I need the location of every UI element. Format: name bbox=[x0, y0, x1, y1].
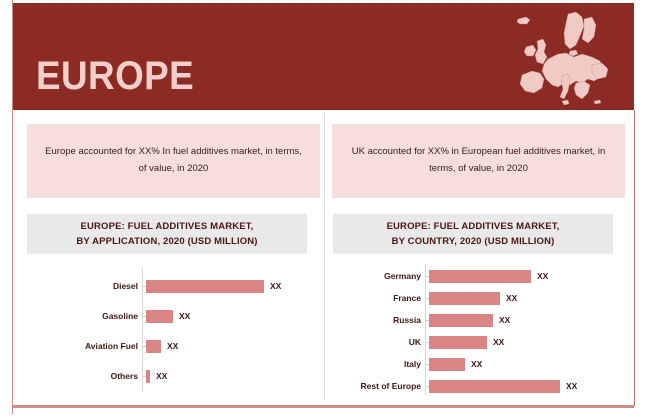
country-bar bbox=[429, 270, 531, 283]
chart-title-by-application-text: EUROPE: FUEL ADDITIVES MARKET, BY APPLIC… bbox=[76, 219, 257, 249]
uk-share-callout: UK accounted for XX% in European fuel ad… bbox=[332, 124, 625, 198]
bottom-accent-rail bbox=[13, 405, 634, 408]
country-value-label: XX bbox=[471, 359, 482, 369]
country-bar bbox=[429, 314, 493, 327]
country-category-label: UK bbox=[337, 337, 425, 347]
application-category-label: Others bbox=[22, 371, 142, 381]
chart-by-country-plot: GermanyXXFranceXXRussiaXXUKXXItalyXXRest… bbox=[337, 262, 627, 400]
application-value-label: XX bbox=[270, 281, 281, 291]
country-bar bbox=[429, 358, 465, 371]
country-value-label: XX bbox=[537, 271, 548, 281]
chart-title-by-application-line2: BY APPLICATION, 2020 (USD MILLION) bbox=[76, 236, 257, 247]
country-bar-row: GermanyXX bbox=[337, 265, 627, 287]
application-bar-row: Aviation FuelXX bbox=[22, 331, 317, 361]
country-bar-row: Rest of EuropeXX bbox=[337, 375, 627, 397]
application-bar bbox=[146, 280, 264, 293]
country-bar-row: UKXX bbox=[337, 331, 627, 353]
country-value-label: XX bbox=[506, 293, 517, 303]
chart-title-by-country-line1: EUROPE: FUEL ADDITIVES MARKET, bbox=[387, 221, 560, 232]
application-bar bbox=[146, 370, 150, 383]
country-bar bbox=[429, 380, 560, 393]
right-accent-rail bbox=[634, 110, 635, 406]
country-category-label: France bbox=[337, 293, 425, 303]
chart-by-country: GermanyXXFranceXXRussiaXXUKXXItalyXXRest… bbox=[337, 262, 627, 400]
country-value-label: XX bbox=[499, 315, 510, 325]
application-value-label: XX bbox=[179, 311, 190, 321]
country-category-label: Germany bbox=[337, 271, 425, 281]
application-bar bbox=[146, 310, 173, 323]
chart-by-application-plot: DieselXXGasolineXXAviation FuelXXOthersX… bbox=[22, 262, 317, 400]
column-divider bbox=[324, 112, 325, 400]
infographic-page: EUROPE bbox=[0, 0, 647, 420]
country-bar-row: ItalyXX bbox=[337, 353, 627, 375]
application-bar-row: GasolineXX bbox=[22, 301, 317, 331]
application-category-label: Aviation Fuel bbox=[22, 341, 142, 351]
country-category-label: Russia bbox=[337, 315, 425, 325]
country-value-label: XX bbox=[493, 337, 504, 347]
application-bar-row: DieselXX bbox=[22, 271, 317, 301]
country-value-label: XX bbox=[566, 381, 577, 391]
country-bar-row: RussiaXX bbox=[337, 309, 627, 331]
chart-title-by-application-line1: EUROPE: FUEL ADDITIVES MARKET, bbox=[81, 221, 254, 232]
application-bar-row: OthersXX bbox=[22, 361, 317, 391]
chart-title-by-country: EUROPE: FUEL ADDITIVES MARKET, BY COUNTR… bbox=[333, 214, 613, 254]
page-title: EUROPE bbox=[36, 56, 194, 96]
chart-title-by-country-text: EUROPE: FUEL ADDITIVES MARKET, BY COUNTR… bbox=[387, 219, 560, 249]
chart-title-by-country-line2: BY COUNTRY, 2020 (USD MILLION) bbox=[392, 236, 555, 247]
country-bar bbox=[429, 292, 500, 305]
application-bar bbox=[146, 340, 161, 353]
country-bar bbox=[429, 336, 487, 349]
application-value-label: XX bbox=[156, 371, 167, 381]
europe-share-callout-text: Europe accounted for XX% In fuel additiv… bbox=[41, 144, 306, 177]
europe-share-callout: Europe accounted for XX% In fuel additiv… bbox=[27, 124, 320, 198]
country-category-label: Italy bbox=[337, 359, 425, 369]
header-banner: EUROPE bbox=[13, 3, 634, 110]
chart-title-by-application: EUROPE: FUEL ADDITIVES MARKET, BY APPLIC… bbox=[27, 214, 307, 254]
country-bar-row: FranceXX bbox=[337, 287, 627, 309]
europe-map-icon bbox=[506, 9, 616, 109]
uk-share-callout-text: UK accounted for XX% in European fuel ad… bbox=[346, 144, 611, 177]
chart-by-application: DieselXXGasolineXXAviation FuelXXOthersX… bbox=[22, 262, 317, 400]
application-category-label: Gasoline bbox=[22, 311, 142, 321]
application-category-label: Diesel bbox=[22, 281, 142, 291]
application-value-label: XX bbox=[167, 341, 178, 351]
country-category-label: Rest of Europe bbox=[337, 381, 425, 391]
